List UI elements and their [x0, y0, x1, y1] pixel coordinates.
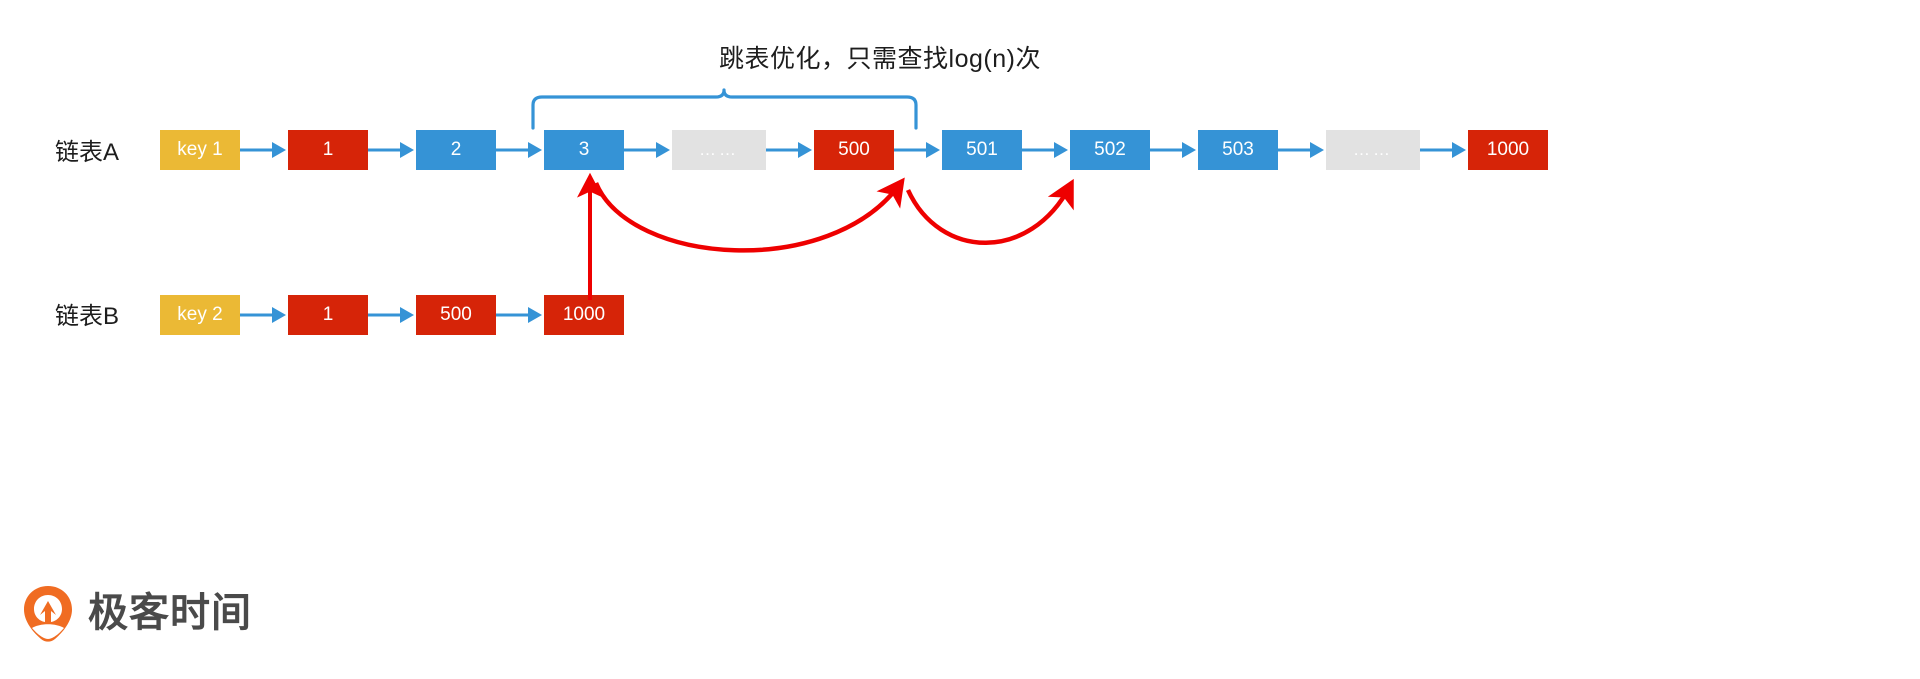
arrow-right-icon: [1150, 140, 1198, 160]
row-label-list-b: 链表B: [55, 303, 119, 331]
arrow-right-icon: [368, 140, 416, 160]
node-a-501[interactable]: 501: [942, 130, 1022, 170]
node-a-ellipsis-1: ……: [672, 130, 766, 170]
span-brace-icon: [530, 88, 920, 130]
arrow-right-icon: [624, 140, 672, 160]
arrow-right-icon: [496, 140, 544, 160]
page-title: 跳表优化，只需查找log(n)次: [0, 42, 1760, 76]
node-key-1[interactable]: key 1: [160, 130, 240, 170]
arrow-right-icon: [1278, 140, 1326, 160]
node-b-1[interactable]: 1: [288, 295, 368, 335]
node-a-500[interactable]: 500: [814, 130, 894, 170]
node-a-1000[interactable]: 1000: [1468, 130, 1548, 170]
node-b-500[interactable]: 500: [416, 295, 496, 335]
linked-list-b: key 2 1 500 1000: [160, 293, 624, 337]
arrow-right-icon: [1420, 140, 1468, 160]
node-a-1[interactable]: 1: [288, 130, 368, 170]
arrow-right-icon: [1022, 140, 1070, 160]
node-a-3[interactable]: 3: [544, 130, 624, 170]
skip-pointer-arrows: [0, 0, 1920, 679]
node-a-2[interactable]: 2: [416, 130, 496, 170]
row-label-list-a: 链表A: [55, 139, 119, 167]
brand-logo-text: 极客时间: [88, 591, 252, 635]
skip-arrow-curve-1: [596, 183, 900, 250]
arrow-right-icon: [240, 140, 288, 160]
node-a-503[interactable]: 503: [1198, 130, 1278, 170]
node-a-502[interactable]: 502: [1070, 130, 1150, 170]
node-key-2[interactable]: key 2: [160, 295, 240, 335]
brand-logo: 极客时间: [22, 584, 252, 642]
arrow-right-icon: [368, 305, 416, 325]
arrow-right-icon: [240, 305, 288, 325]
linked-list-a: key 1 1 2 3 …… 500 501 502 503 …… 1000: [160, 128, 1548, 172]
node-b-1000[interactable]: 1000: [544, 295, 624, 335]
node-a-ellipsis-2: ……: [1326, 130, 1420, 170]
skip-arrow-curve-2: [908, 186, 1070, 243]
geekbang-pin-icon: [22, 584, 74, 642]
arrow-right-icon: [766, 140, 814, 160]
arrow-right-icon: [496, 305, 544, 325]
arrow-right-icon: [894, 140, 942, 160]
